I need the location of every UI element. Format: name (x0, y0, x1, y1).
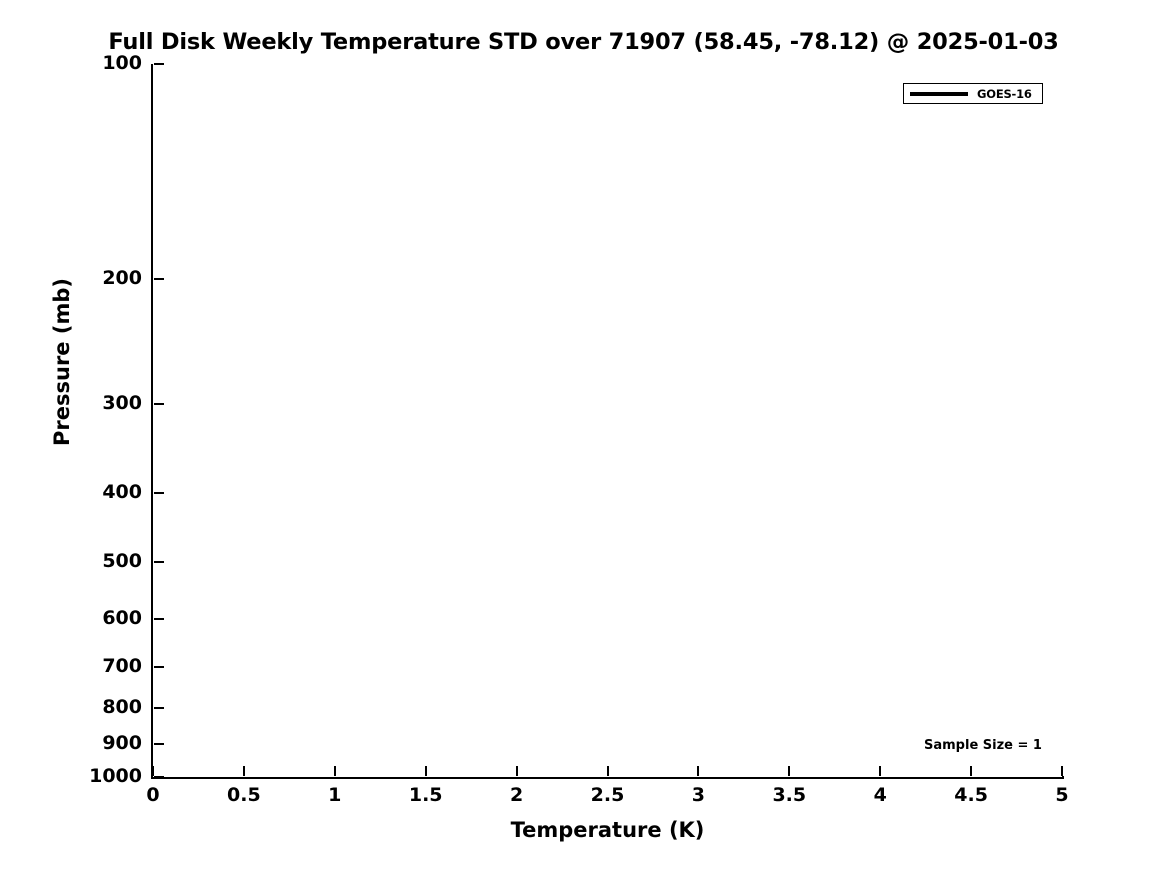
x-tick-mark (152, 766, 154, 776)
chart-figure: Full Disk Weekly Temperature STD over 71… (0, 0, 1167, 875)
x-tick-label: 4.5 (954, 786, 988, 805)
x-tick-label: 4 (874, 786, 887, 805)
x-tick-mark (1061, 766, 1063, 776)
y-tick-label: 900 (0, 734, 151, 753)
x-tick-label: 5 (1055, 786, 1068, 805)
y-tick-label: 700 (0, 657, 151, 676)
x-tick-label: 3.5 (772, 786, 806, 805)
y-tick-label: 500 (0, 552, 151, 571)
x-tick-mark (243, 766, 245, 776)
page-title: Full Disk Weekly Temperature STD over 71… (0, 29, 1167, 55)
y-tick-mark (154, 492, 164, 494)
y-tick-label: 300 (0, 394, 151, 413)
x-tick-mark (425, 766, 427, 776)
x-tick-label: 0 (146, 786, 159, 805)
x-tick-label: 3 (692, 786, 705, 805)
x-axis-label: Temperature (K) (153, 818, 1062, 842)
sample-size-annotation: Sample Size = 1 (924, 738, 1042, 753)
x-tick-mark (607, 766, 609, 776)
y-tick-mark (154, 63, 164, 65)
y-tick-mark (154, 278, 164, 280)
y-tick-label: 200 (0, 269, 151, 288)
plot-area (153, 64, 1062, 777)
chart-legend[interactable]: GOES-16 (903, 83, 1043, 104)
x-tick-mark (879, 766, 881, 776)
x-tick-mark (788, 766, 790, 776)
y-tick-mark (154, 743, 164, 745)
y-tick-label: 600 (0, 609, 151, 628)
y-tick-mark (154, 707, 164, 709)
x-tick-mark (334, 766, 336, 776)
y-tick-label: 1000 (0, 767, 151, 786)
x-tick-mark (697, 766, 699, 776)
legend-label-goes16: GOES-16 (977, 87, 1032, 101)
x-tick-label: 1 (328, 786, 341, 805)
data-series-canvas (153, 64, 1062, 777)
x-tick-label: 2.5 (591, 786, 625, 805)
y-axis-label: Pressure (mb) (50, 252, 74, 472)
y-tick-mark (154, 561, 164, 563)
y-tick-mark (154, 403, 164, 405)
legend-line-swatch-goes16 (910, 92, 968, 96)
x-tick-mark (516, 766, 518, 776)
x-tick-label: 0.5 (227, 786, 261, 805)
y-tick-label: 800 (0, 698, 151, 717)
x-tick-mark (970, 766, 972, 776)
x-tick-label: 2 (510, 786, 523, 805)
y-tick-mark (154, 666, 164, 668)
y-tick-label: 400 (0, 483, 151, 502)
y-tick-mark (154, 776, 164, 778)
y-tick-mark (154, 618, 164, 620)
y-tick-label: 100 (0, 54, 151, 73)
x-tick-label: 1.5 (409, 786, 443, 805)
